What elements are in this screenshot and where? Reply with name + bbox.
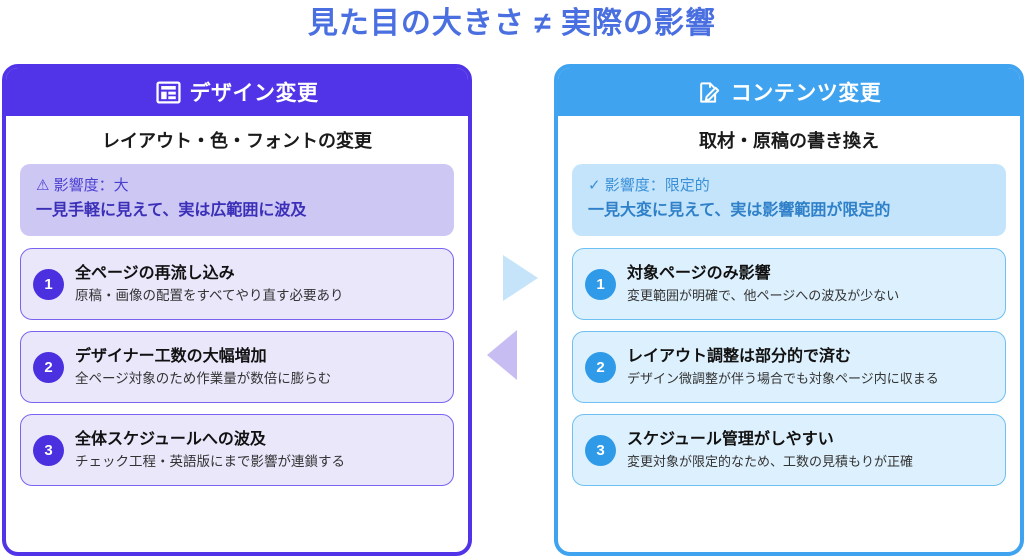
- panel-design-change: デザイン変更 レイアウト・色・フォントの変更 ⚠ 影響度：大 一見手軽に見えて、…: [2, 64, 472, 556]
- item-description: 原稿・画像の配置をすべてやり直す必要あり: [75, 285, 344, 306]
- item-title: 対象ページのみ影響: [627, 262, 899, 285]
- item-number-badge: 3: [33, 435, 64, 466]
- item-number-badge: 2: [33, 352, 64, 383]
- panel-header-content: コンテンツ変更: [558, 68, 1020, 116]
- list-item: 2 デザイナー工数の大幅増加 全ページ対象のため作業量が数倍に膨らむ: [20, 331, 454, 403]
- item-description: チェック工程・英語版にまで影響が連鎖する: [75, 451, 345, 472]
- item-number-badge: 1: [585, 269, 616, 300]
- arrow-left-purple: [487, 330, 517, 380]
- layout-wireframe-icon: [156, 80, 181, 105]
- item-number-badge: 3: [585, 435, 616, 466]
- arrow-right-blue: [503, 255, 538, 301]
- item-texts: デザイナー工数の大幅増加 全ページ対象のため作業量が数倍に膨らむ: [75, 345, 331, 389]
- item-texts: 対象ページのみ影響 変更範囲が明確で、他ページへの波及が少ない: [627, 262, 899, 306]
- panel-subtitle-content: 取材・原稿の書き換え: [572, 124, 1006, 158]
- impact-level-label-design: ⚠ 影響度：大: [36, 174, 438, 198]
- list-item: 3 全体スケジュールへの波及 チェック工程・英語版にまで影響が連鎖する: [20, 414, 454, 486]
- panel-subtitle-design: レイアウト・色・フォントの変更: [20, 124, 454, 158]
- impact-callout-content: ✓ 影響度：限定的 一見大変に見えて、実は影響範囲が限定的: [572, 164, 1006, 236]
- item-description: 変更対象が限定的なため、工数の見積もりが正確: [627, 451, 913, 472]
- panel-body-content: 取材・原稿の書き換え ✓ 影響度：限定的 一見大変に見えて、実は影響範囲が限定的…: [558, 116, 1020, 486]
- item-description: 変更範囲が明確で、他ページへの波及が少ない: [627, 285, 899, 306]
- item-number-badge: 2: [585, 352, 616, 383]
- item-texts: スケジュール管理がしやすい 変更対象が限定的なため、工数の見積もりが正確: [627, 428, 913, 472]
- item-title: スケジュール管理がしやすい: [627, 428, 913, 451]
- impact-callout-design: ⚠ 影響度：大 一見手軽に見えて、実は広範囲に波及: [20, 164, 454, 236]
- item-texts: レイアウト調整は部分的で済む デザイン微調整が伴う場合でも対象ページ内に収まる: [627, 345, 939, 389]
- impact-level-label-content: ✓ 影響度：限定的: [588, 174, 990, 198]
- page-title: 見た目の大きさ ≠ 実際の影響: [0, 2, 1024, 46]
- impact-summary-design: 一見手軽に見えて、実は広範囲に波及: [36, 198, 438, 224]
- panel-content-change: コンテンツ変更 取材・原稿の書き換え ✓ 影響度：限定的 一見大変に見えて、実は…: [554, 64, 1024, 556]
- impact-summary-content: 一見大変に見えて、実は影響範囲が限定的: [588, 198, 990, 224]
- list-item: 1 全ページの再流し込み 原稿・画像の配置をすべてやり直す必要あり: [20, 248, 454, 320]
- item-title: 全体スケジュールへの波及: [75, 428, 345, 451]
- list-item: 3 スケジュール管理がしやすい 変更対象が限定的なため、工数の見積もりが正確: [572, 414, 1006, 486]
- panel-header-design: デザイン変更: [6, 68, 468, 116]
- item-number-badge: 1: [33, 269, 64, 300]
- document-edit-pencil-icon: [697, 80, 722, 105]
- item-title: 全ページの再流し込み: [75, 262, 344, 285]
- list-item: 1 対象ページのみ影響 変更範囲が明確で、他ページへの波及が少ない: [572, 248, 1006, 320]
- panel-header-design-label: デザイン変更: [190, 77, 319, 107]
- item-description: 全ページ対象のため作業量が数倍に膨らむ: [75, 368, 331, 389]
- item-description: デザイン微調整が伴う場合でも対象ページ内に収まる: [627, 368, 939, 389]
- item-title: デザイナー工数の大幅増加: [75, 345, 331, 368]
- panel-body-design: レイアウト・色・フォントの変更 ⚠ 影響度：大 一見手軽に見えて、実は広範囲に波…: [6, 116, 468, 486]
- item-texts: 全ページの再流し込み 原稿・画像の配置をすべてやり直す必要あり: [75, 262, 344, 306]
- panel-header-content-label: コンテンツ変更: [731, 77, 882, 107]
- item-texts: 全体スケジュールへの波及 チェック工程・英語版にまで影響が連鎖する: [75, 428, 345, 472]
- item-title: レイアウト調整は部分的で済む: [627, 345, 939, 368]
- list-item: 2 レイアウト調整は部分的で済む デザイン微調整が伴う場合でも対象ページ内に収ま…: [572, 331, 1006, 403]
